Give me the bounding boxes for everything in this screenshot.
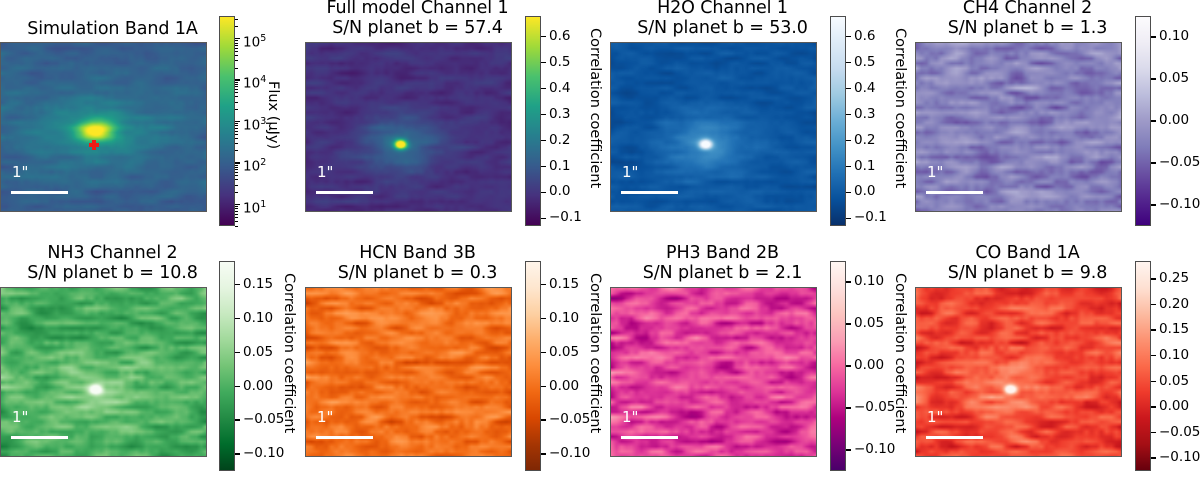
colorbar-minor-tick [235,109,238,110]
colorbar-tick [846,281,851,282]
pixel-field [611,288,816,456]
colorbar-tick-label: 0.05 [243,346,273,360]
planet-position-marker-icon [89,140,99,150]
colorbar-minor-tick [235,226,238,227]
image-map-ph3-band-2b[interactable]: 1" [610,287,817,457]
colorbar-minor-tick [235,138,238,139]
panel-title-line1: NH3 Channel 2 [0,243,225,263]
colorbar-tick [541,218,546,219]
colorbar-minor-tick [235,185,238,186]
colorbar-tick [1151,36,1156,37]
scalebar-label: 1" [622,165,638,180]
colorbar-tick-label: 0.1 [549,160,570,174]
colorbar-tick [541,192,546,193]
colorbar-tick-label: 0.0 [549,185,570,199]
colorbar-minor-tick [235,172,238,173]
colorbar-minor-tick [235,134,238,135]
colorbar-tick [1151,355,1156,356]
colorbar-nh3-channel-2 [219,261,235,471]
panel-title-ph3-band-2b: PH3 Band 2BS/N planet b = 2.1 [610,243,835,283]
panel-title-full-model-channel-1: Full model Channel 1S/N planet b = 57.4 [305,0,530,38]
panel-title-ch4-channel-2: CH4 Channel 2S/N planet b = 1.3 [915,0,1140,38]
colorbar-axis-title: Correlation coefficient [587,28,603,188]
colorbar-minor-tick [235,82,238,83]
colorbar-tick-label: 0.00 [1159,400,1189,414]
pixel-field [1,43,206,211]
colorbar-axis-title: Correlation coefficient [892,273,908,433]
colorbar-tick [846,192,851,193]
colorbar-tick-label: 0.0 [854,185,875,199]
panel-title-simulation-band-1a: Simulation Band 1A [0,19,225,39]
colorbar-tick-label: 0.4 [549,82,570,96]
colorbar-tick [846,449,851,450]
scalebar [621,191,678,194]
colorbar-tick-label: 0.15 [1159,323,1189,337]
colorbar-tick-label: 0.3 [549,108,570,122]
colorbar-minor-tick [235,217,238,218]
colorbar-tick [1151,304,1156,305]
colorbar-minor-tick [235,55,238,56]
colorbar-axis-title: Flux (μJy) [265,81,281,149]
colorbar-tick-label: −0.10 [854,443,895,457]
colorbar-tick [846,166,851,167]
colorbar-tick-label: −0.10 [549,447,590,461]
colorbar-tick-label: 0.20 [1159,298,1189,312]
colorbar-full-model-channel-1 [525,16,541,226]
scalebar-label: 1" [317,165,333,180]
colorbar-minor-tick [235,206,238,207]
scalebar [11,191,68,194]
colorbar-tick [235,318,240,319]
colorbar-tick [1151,120,1156,121]
colorbar-minor-tick [235,96,238,97]
colorbar-tick [846,365,851,366]
colorbar-minor-tick [235,150,238,151]
colorbar-tick [1151,78,1156,79]
colorbar-tick-label: 0.2 [549,134,570,148]
panel-title-line2: S/N planet b = 9.8 [915,263,1140,283]
colorbar-tick-label: −0.05 [549,413,590,427]
scalebar-label: 1" [622,410,638,425]
colorbar-minor-tick [235,89,238,90]
colorbar-tick-label: −0.05 [243,413,284,427]
colorbar-tick [235,352,240,353]
colorbar-tick-label: 0.10 [1159,349,1189,363]
scalebar [316,191,373,194]
panel-title-line2: S/N planet b = 57.4 [305,18,530,38]
colorbar-tick [235,38,240,39]
scalebar-label: 1" [12,410,28,425]
colorbar-minor-tick [235,214,238,215]
colorbar-tick [1151,457,1156,458]
colorbar-minor-tick [235,179,238,180]
colorbar-tick-label: 0.10 [1159,30,1189,44]
colorbar-tick [541,419,546,420]
colorbar-minor-tick [235,208,238,209]
image-map-nh3-channel-2[interactable]: 1" [0,287,207,457]
colorbar-tick-label: 0.05 [1159,375,1189,389]
colorbar-tick-label: 0.00 [1159,114,1189,128]
panel-title-line2: S/N planet b = 2.1 [610,263,835,283]
colorbar-axis-title: Correlation coefficient [892,28,908,188]
colorbar-tick [541,453,546,454]
colorbar-tick [1151,278,1156,279]
colorbar-tick-label: 0.00 [854,359,884,373]
multi-panel-figure: Simulation Band 1A1"101102103104105Flux … [0,0,1200,484]
scalebar-label: 1" [927,165,943,180]
colorbar-minor-tick [235,165,238,166]
colorbar-tick [541,352,546,353]
panel-title-line1: Full model Channel 1 [305,0,530,18]
colorbar-tick [541,62,546,63]
colorbar-minor-tick [235,128,238,129]
pixel-field [611,43,816,211]
colorbar-tick-label: 0.5 [549,56,570,70]
pixel-field [306,43,511,211]
panel-title-line1: PH3 Band 2B [610,243,835,263]
colorbar-minor-tick [235,102,238,103]
colorbar-tick [541,284,546,285]
colorbar-tick [541,88,546,89]
colorbar-ch4-channel-2 [1135,16,1151,226]
colorbar-tick-label: 103 [243,115,266,133]
colorbar-tick-label: −0.05 [1159,426,1200,440]
panel-title-line1: HCN Band 3B [305,243,530,263]
pixel-field [1,288,206,456]
colorbar-tick [541,114,546,115]
colorbar-minor-tick [235,19,238,20]
scalebar [926,191,983,194]
colorbar-minor-tick [235,175,238,176]
panel-title-line2: S/N planet b = 1.3 [915,18,1140,38]
colorbar-tick [1151,162,1156,163]
colorbar-minor-tick [235,143,238,144]
colorbar-tick-label: 0.10 [854,275,884,289]
colorbar-tick [235,284,240,285]
colorbar-minor-tick [235,169,238,170]
scalebar-label: 1" [317,410,333,425]
colorbar-tick-label: 0.10 [243,312,273,326]
colorbar-minor-tick [235,40,238,41]
colorbar-tick-label: 0.2 [854,134,875,148]
image-map-simulation-band-1a[interactable]: 1" [0,42,207,212]
pixel-field [916,288,1121,456]
scalebar-label: 1" [927,410,943,425]
colorbar-tick-label: 0.10 [549,312,579,326]
scalebar [926,436,983,439]
colorbar-tick-label: 101 [243,198,266,216]
colorbar-minor-tick [235,123,238,124]
panel-title-line2: S/N planet b = 0.3 [305,263,530,283]
colorbar-tick-label: 104 [243,73,266,91]
panel-title-hcn-band-3b: HCN Band 3BS/N planet b = 0.3 [305,243,530,283]
pixel-field [306,288,511,456]
panel-title-co-band-1a: CO Band 1AS/N planet b = 9.8 [915,243,1140,283]
colorbar-tick [1151,329,1156,330]
colorbar-minor-tick [235,125,238,126]
scalebar [11,436,68,439]
colorbar-tick-label: 0.5 [854,56,875,70]
colorbar-tick [846,114,851,115]
colorbar-tick [235,204,240,205]
colorbar-axis-title: Correlation coefficient [281,273,297,433]
colorbar-tick [1151,204,1156,205]
image-map-ch4-channel-2[interactable]: 1" [915,42,1122,212]
colorbar-tick-label: 0.05 [549,346,579,360]
colorbar-tick-label: −0.1 [549,211,582,225]
colorbar-tick-label: 0.1 [854,160,875,174]
colorbar-tick [541,36,546,37]
colorbar-tick-label: 0.05 [854,317,884,331]
colorbar-minor-tick [235,167,238,168]
colorbar-minor-tick [235,51,238,52]
colorbar-tick [1151,406,1156,407]
colorbar-minor-tick [235,221,238,222]
colorbar-tick-label: −0.1 [854,211,887,225]
colorbar-tick [1151,381,1156,382]
colorbar-tick-label: 0.00 [549,380,579,394]
colorbar-minor-tick [235,86,238,87]
panel-title-line1: H2O Channel 1 [610,0,835,18]
colorbar-tick-label: 0.00 [243,380,273,394]
colorbar-tick [541,318,546,319]
panel-title-line2: S/N planet b = 10.8 [0,263,225,283]
colorbar-tick [235,453,240,454]
colorbar-minor-tick [235,192,238,193]
colorbar-tick [235,386,240,387]
colorbar-tick [846,140,851,141]
colorbar-tick-label: 0.4 [854,82,875,96]
colorbar-tick [541,386,546,387]
colorbar-tick [541,140,546,141]
colorbar-tick-label: 0.3 [854,108,875,122]
image-map-h2o-channel-1[interactable]: 1" [610,42,817,212]
colorbar-axis-title: Correlation coefficient [587,273,603,433]
colorbar-simulation-band-1a [219,16,235,226]
colorbar-tick-label: 102 [243,156,266,174]
panel-title-nh3-channel-2: NH3 Channel 2S/N planet b = 10.8 [0,243,225,283]
colorbar-minor-tick [235,211,238,212]
colorbar-tick-label: 0.6 [549,30,570,44]
colorbar-tick [1151,432,1156,433]
colorbar-tick [846,323,851,324]
colorbar-tick [235,419,240,420]
colorbar-tick-label: −0.05 [854,401,895,415]
scalebar [316,436,373,439]
pixel-field [916,43,1121,211]
colorbar-tick [846,88,851,89]
colorbar-tick-label: −0.10 [1159,198,1200,212]
scalebar-label: 1" [12,165,28,180]
panel-title-h2o-channel-1: H2O Channel 1S/N planet b = 53.0 [610,0,835,38]
colorbar-tick [235,162,240,163]
colorbar-minor-tick [235,131,238,132]
colorbar-tick-label: 0.25 [1159,272,1189,286]
colorbar-hcn-band-3b [525,261,541,471]
colorbar-tick-label: −0.10 [243,447,284,461]
colorbar-tick-label: −0.05 [1159,156,1200,170]
colorbar-tick-label: 0.15 [549,278,579,292]
colorbar-tick [846,407,851,408]
colorbar-tick [846,218,851,219]
panel-title-line1: CO Band 1A [915,243,1140,263]
colorbar-tick-label: 0.05 [1159,72,1189,86]
image-map-co-band-1a[interactable]: 1" [915,287,1122,457]
colorbar-minor-tick [235,48,238,49]
colorbar-tick-label: −0.10 [1159,451,1200,465]
colorbar-tick [541,166,546,167]
colorbar-tick-label: 0.15 [243,278,273,292]
colorbar-minor-tick [235,45,238,46]
colorbar-minor-tick [235,60,238,61]
colorbar-minor-tick [235,92,238,93]
colorbar-tick [846,36,851,37]
scalebar [621,436,678,439]
panel-title-line1: Simulation Band 1A [0,19,225,39]
image-map-hcn-band-3b[interactable]: 1" [305,287,512,457]
colorbar-minor-tick [235,43,238,44]
colorbar-tick [235,121,240,122]
colorbar-tick [846,62,851,63]
colorbar-minor-tick [235,84,238,85]
colorbar-tick-label: 0.6 [854,30,875,44]
image-map-full-model-channel-1[interactable]: 1" [305,42,512,212]
colorbar-co-band-1a [1135,261,1151,471]
panel-title-line1: CH4 Channel 2 [915,0,1140,18]
colorbar-minor-tick [235,68,238,69]
colorbar-h2o-channel-1 [830,16,846,226]
panel-title-line2: S/N planet b = 53.0 [610,18,835,38]
colorbar-tick-label: 105 [243,32,266,50]
colorbar-ph3-band-2b [830,261,846,471]
colorbar-tick [235,79,240,80]
colorbar-minor-tick [235,26,238,27]
